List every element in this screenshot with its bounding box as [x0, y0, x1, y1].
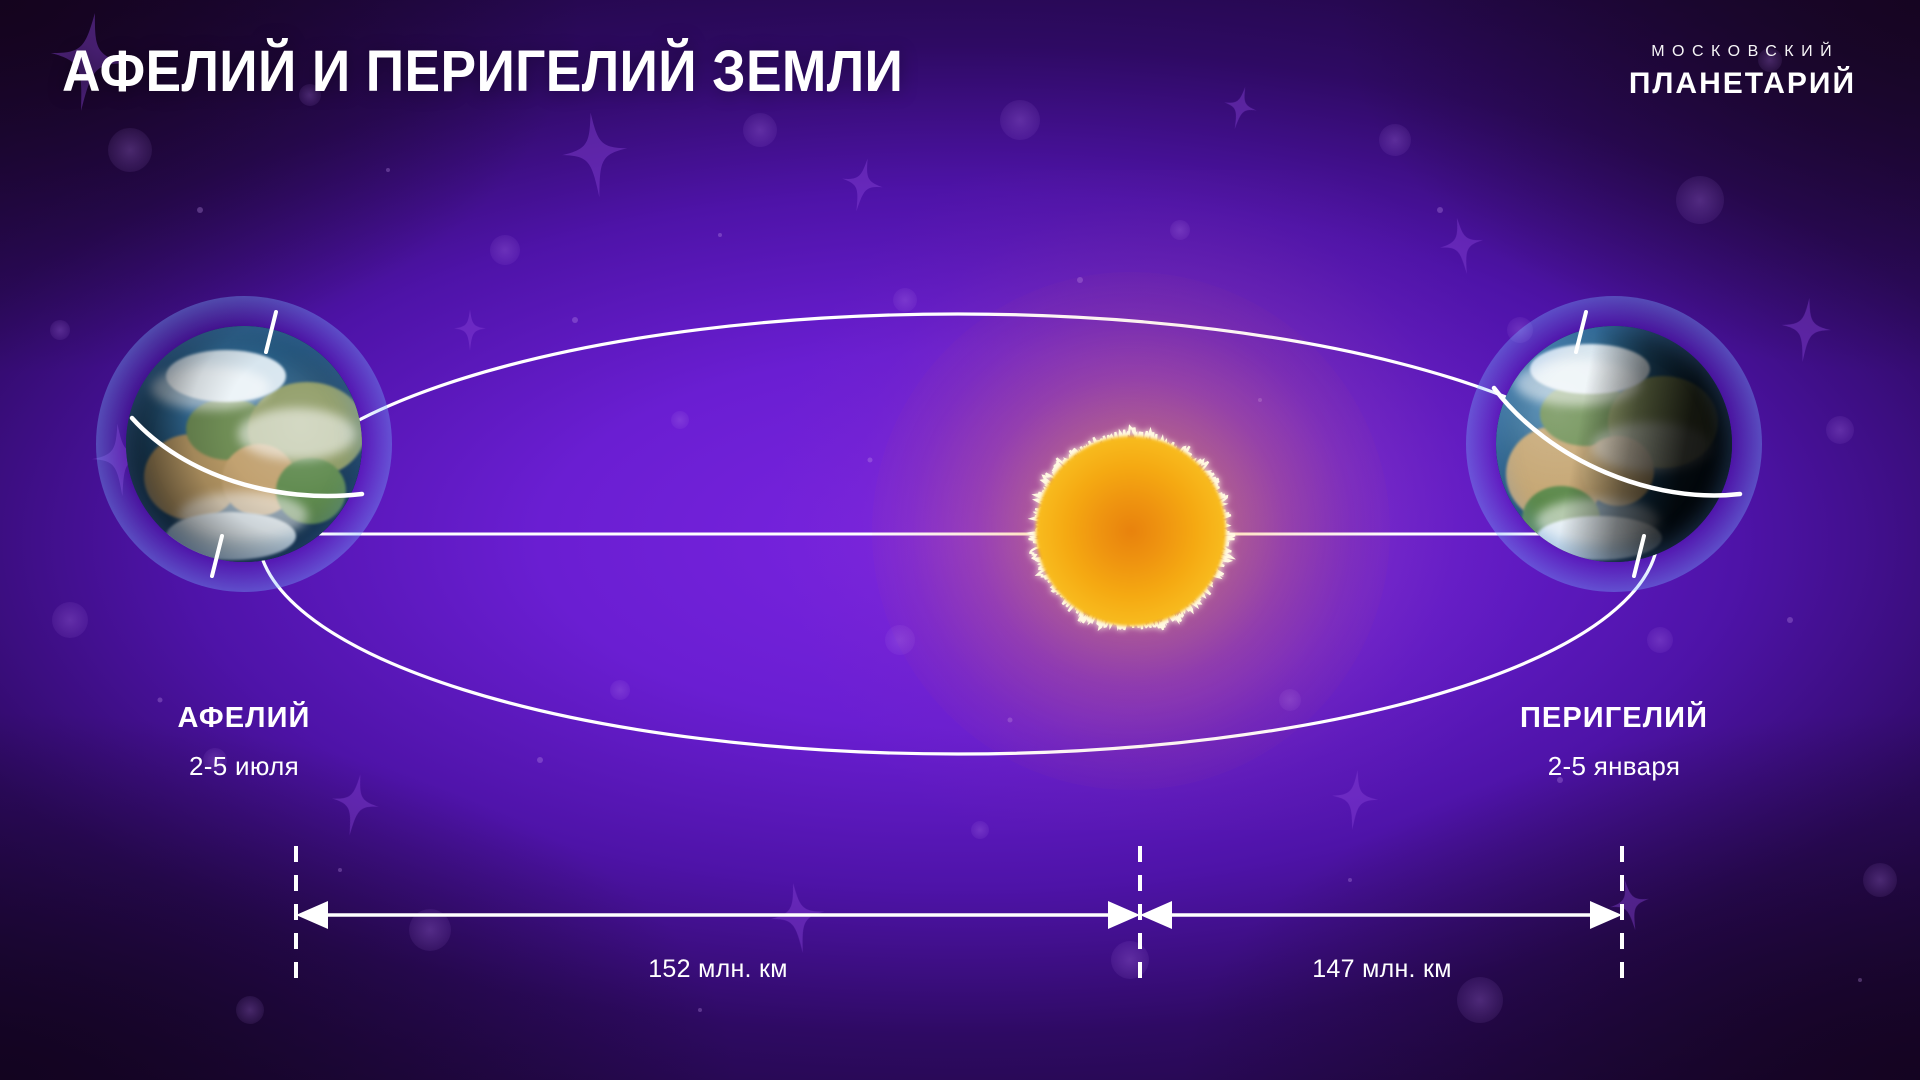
- distance-ruler: [0, 0, 1920, 1080]
- arrowhead-left-outer: [296, 901, 328, 929]
- distance-label-aphelion: 152 млн. км: [568, 955, 868, 984]
- arrowhead-right-inner: [1140, 901, 1172, 929]
- arrowhead-left-inner: [1108, 901, 1140, 929]
- arrowhead-right-outer: [1590, 901, 1622, 929]
- distance-label-perihelion: 147 млн. км: [1232, 955, 1532, 984]
- infographic-canvas: АФЕЛИЙ И ПЕРИГЕЛИЙ ЗЕМЛИ МОСКОВСКИЙ ПЛАН…: [0, 0, 1920, 1080]
